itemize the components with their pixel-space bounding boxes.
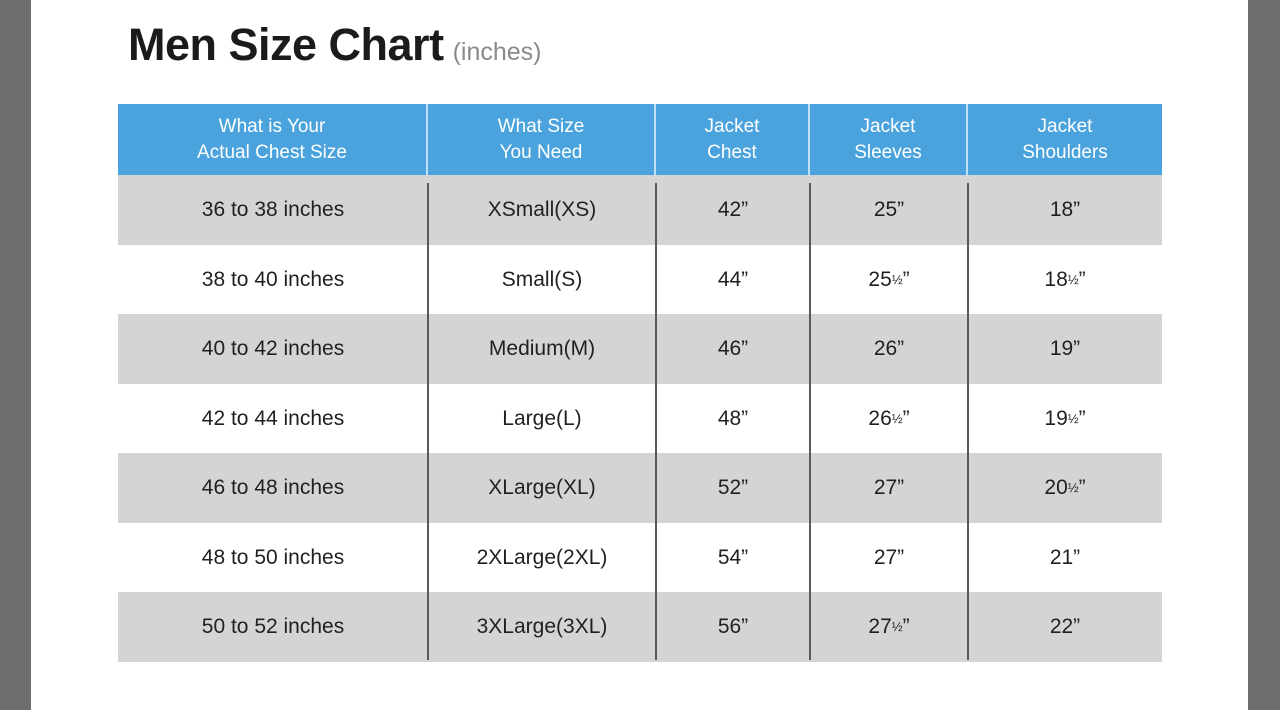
table-body: 36 to 38 inchesXSmall(XS)42”25”18”38 to … xyxy=(118,175,1162,662)
column-header-line2: Sleeves xyxy=(854,140,922,165)
cell-size-needed: Small(S) xyxy=(428,245,656,315)
cell-size-needed: XLarge(XL) xyxy=(428,453,656,523)
column-divider xyxy=(655,183,657,660)
cell-size-needed: XSmall(XS) xyxy=(428,175,656,245)
cell-jacket-shoulders: 21” xyxy=(968,523,1162,593)
cell-size-needed: 3XLarge(3XL) xyxy=(428,592,656,662)
cell-size-needed: Large(L) xyxy=(428,384,656,454)
table-row: 46 to 48 inchesXLarge(XL)52”27”20½” xyxy=(118,453,1162,523)
cell-size-needed: Medium(M) xyxy=(428,314,656,384)
column-header-line2: You Need xyxy=(500,140,583,165)
letterbox-bar-left xyxy=(0,0,31,710)
cell-jacket-chest: 56” xyxy=(656,592,810,662)
table-row: 36 to 38 inchesXSmall(XS)42”25”18” xyxy=(118,175,1162,245)
cell-jacket-shoulders: 20½” xyxy=(968,453,1162,523)
cell-jacket-shoulders: 18” xyxy=(968,175,1162,245)
table-header-row: What is YourActual Chest SizeWhat SizeYo… xyxy=(118,104,1162,175)
column-header-line2: Shoulders xyxy=(1022,140,1108,165)
cell-jacket-sleeves: 27” xyxy=(810,453,968,523)
column-divider xyxy=(809,183,811,660)
cell-chest-size: 40 to 42 inches xyxy=(118,314,428,384)
column-header-jacket-sleeves: JacketSleeves xyxy=(810,104,968,175)
cell-chest-size: 50 to 52 inches xyxy=(118,592,428,662)
page-title: Men Size Chart (inches) xyxy=(128,22,541,67)
cell-chest-size: 46 to 48 inches xyxy=(118,453,428,523)
page-title-unit: (inches) xyxy=(453,40,542,65)
cell-jacket-sleeves: 26½” xyxy=(810,384,968,454)
column-header-line1: Jacket xyxy=(861,114,916,139)
column-header-line1: What is Your xyxy=(219,114,326,139)
cell-chest-size: 36 to 38 inches xyxy=(118,175,428,245)
column-header-jacket-chest: JacketChest xyxy=(656,104,810,175)
cell-jacket-chest: 46” xyxy=(656,314,810,384)
cell-jacket-chest: 54” xyxy=(656,523,810,593)
page-title-main: Men Size Chart xyxy=(128,22,444,67)
column-header-chest-size: What is YourActual Chest Size xyxy=(118,104,428,175)
column-header-line1: What Size xyxy=(498,114,585,139)
table-row: 48 to 50 inches2XLarge(2XL)54”27”21” xyxy=(118,523,1162,593)
table-row: 40 to 42 inchesMedium(M)46”26”19” xyxy=(118,314,1162,384)
cell-jacket-sleeves: 27½” xyxy=(810,592,968,662)
cell-jacket-sleeves: 25½” xyxy=(810,245,968,315)
cell-jacket-chest: 44” xyxy=(656,245,810,315)
cell-chest-size: 42 to 44 inches xyxy=(118,384,428,454)
cell-jacket-shoulders: 19” xyxy=(968,314,1162,384)
cell-chest-size: 38 to 40 inches xyxy=(118,245,428,315)
size-chart-page: Men Size Chart (inches) What is YourActu… xyxy=(31,0,1248,710)
cell-jacket-shoulders: 22” xyxy=(968,592,1162,662)
cell-size-needed: 2XLarge(2XL) xyxy=(428,523,656,593)
column-header-line2: Actual Chest Size xyxy=(197,140,347,165)
letterbox-bar-right xyxy=(1248,0,1280,710)
cell-jacket-shoulders: 18½” xyxy=(968,245,1162,315)
column-header-line2: Chest xyxy=(707,140,757,165)
cell-jacket-chest: 42” xyxy=(656,175,810,245)
table-row: 50 to 52 inches3XLarge(3XL)56”27½”22” xyxy=(118,592,1162,662)
table-row: 38 to 40 inchesSmall(S)44”25½”18½” xyxy=(118,245,1162,315)
cell-chest-size: 48 to 50 inches xyxy=(118,523,428,593)
size-chart-table: What is YourActual Chest SizeWhat SizeYo… xyxy=(118,104,1162,662)
table-row: 42 to 44 inchesLarge(L)48”26½”19½” xyxy=(118,384,1162,454)
column-divider xyxy=(427,183,429,660)
cell-jacket-sleeves: 26” xyxy=(810,314,968,384)
column-header-jacket-shoulders: JacketShoulders xyxy=(968,104,1162,175)
cell-jacket-chest: 52” xyxy=(656,453,810,523)
column-header-size-needed: What SizeYou Need xyxy=(428,104,656,175)
cell-jacket-shoulders: 19½” xyxy=(968,384,1162,454)
cell-jacket-sleeves: 25” xyxy=(810,175,968,245)
cell-jacket-chest: 48” xyxy=(656,384,810,454)
column-divider xyxy=(967,183,969,660)
column-header-line1: Jacket xyxy=(1038,114,1093,139)
cell-jacket-sleeves: 27” xyxy=(810,523,968,593)
column-header-line1: Jacket xyxy=(705,114,760,139)
